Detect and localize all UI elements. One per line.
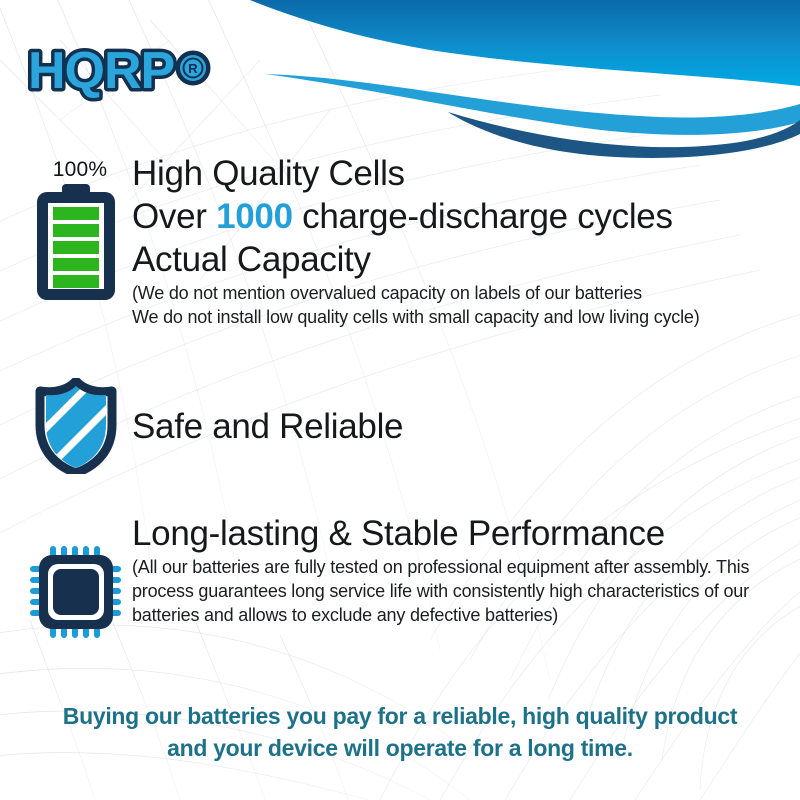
- chip-icon: [28, 544, 124, 640]
- battery-percent-label: 100%: [30, 158, 130, 182]
- battery-full-icon: [28, 184, 124, 300]
- footer-tagline-line-2: and your device will operate for a long …: [0, 732, 800, 764]
- heading-long-lasting-performance: Long-lasting & Stable Performance: [132, 512, 787, 555]
- hqrp-logo: HQRP HQRP R: [26, 44, 226, 106]
- footer-tagline-line-1: Buying our batteries you pay for a relia…: [0, 700, 800, 732]
- footer-tagline: Buying our batteries you pay for a relia…: [0, 700, 800, 764]
- note-performance: (All our batteries are fully tested on p…: [132, 555, 787, 627]
- cycles-count-value: 1000: [216, 197, 293, 236]
- feature-icon-slot: 100%: [22, 158, 130, 305]
- feature-icon-slot: [22, 378, 130, 474]
- heading-safe-and-reliable: Safe and Reliable: [132, 405, 782, 448]
- registered-trademark-icon: R: [179, 54, 207, 82]
- hqrp-logo-fill: HQRP: [28, 44, 174, 100]
- heading-charge-cycles-prefix: Over: [132, 197, 216, 236]
- heading-actual-capacity: Actual Capacity: [132, 238, 782, 281]
- feature-safe-and-reliable: Safe and Reliable: [22, 378, 782, 474]
- heading-high-quality-cells: High Quality Cells: [132, 152, 782, 195]
- feature-text-block: Long-lasting & Stable Performance (All o…: [130, 512, 787, 627]
- feature-icon-slot: [22, 512, 130, 640]
- shield-icon: [32, 378, 120, 474]
- heading-charge-cycles-suffix: charge-discharge cycles: [293, 197, 673, 236]
- heading-charge-cycles: Over 1000 charge-discharge cycles: [132, 195, 782, 238]
- feature-long-lasting-performance: Long-lasting & Stable Performance (All o…: [22, 512, 782, 640]
- svg-text:R: R: [188, 61, 198, 76]
- feature-text-block: High Quality Cells Over 1000 charge-disc…: [130, 152, 782, 329]
- feature-text-block: Safe and Reliable: [130, 405, 782, 448]
- feature-high-quality-cells: 100% High Quality Cells Over 1000 charge…: [22, 158, 782, 329]
- note-capacity-line-2: We do not install low quality cells with…: [132, 305, 782, 329]
- marketing-infographic-page: HQRP HQRP R 100%: [0, 0, 800, 800]
- note-capacity-line-1: (We do not mention overvalued capacity o…: [132, 281, 782, 305]
